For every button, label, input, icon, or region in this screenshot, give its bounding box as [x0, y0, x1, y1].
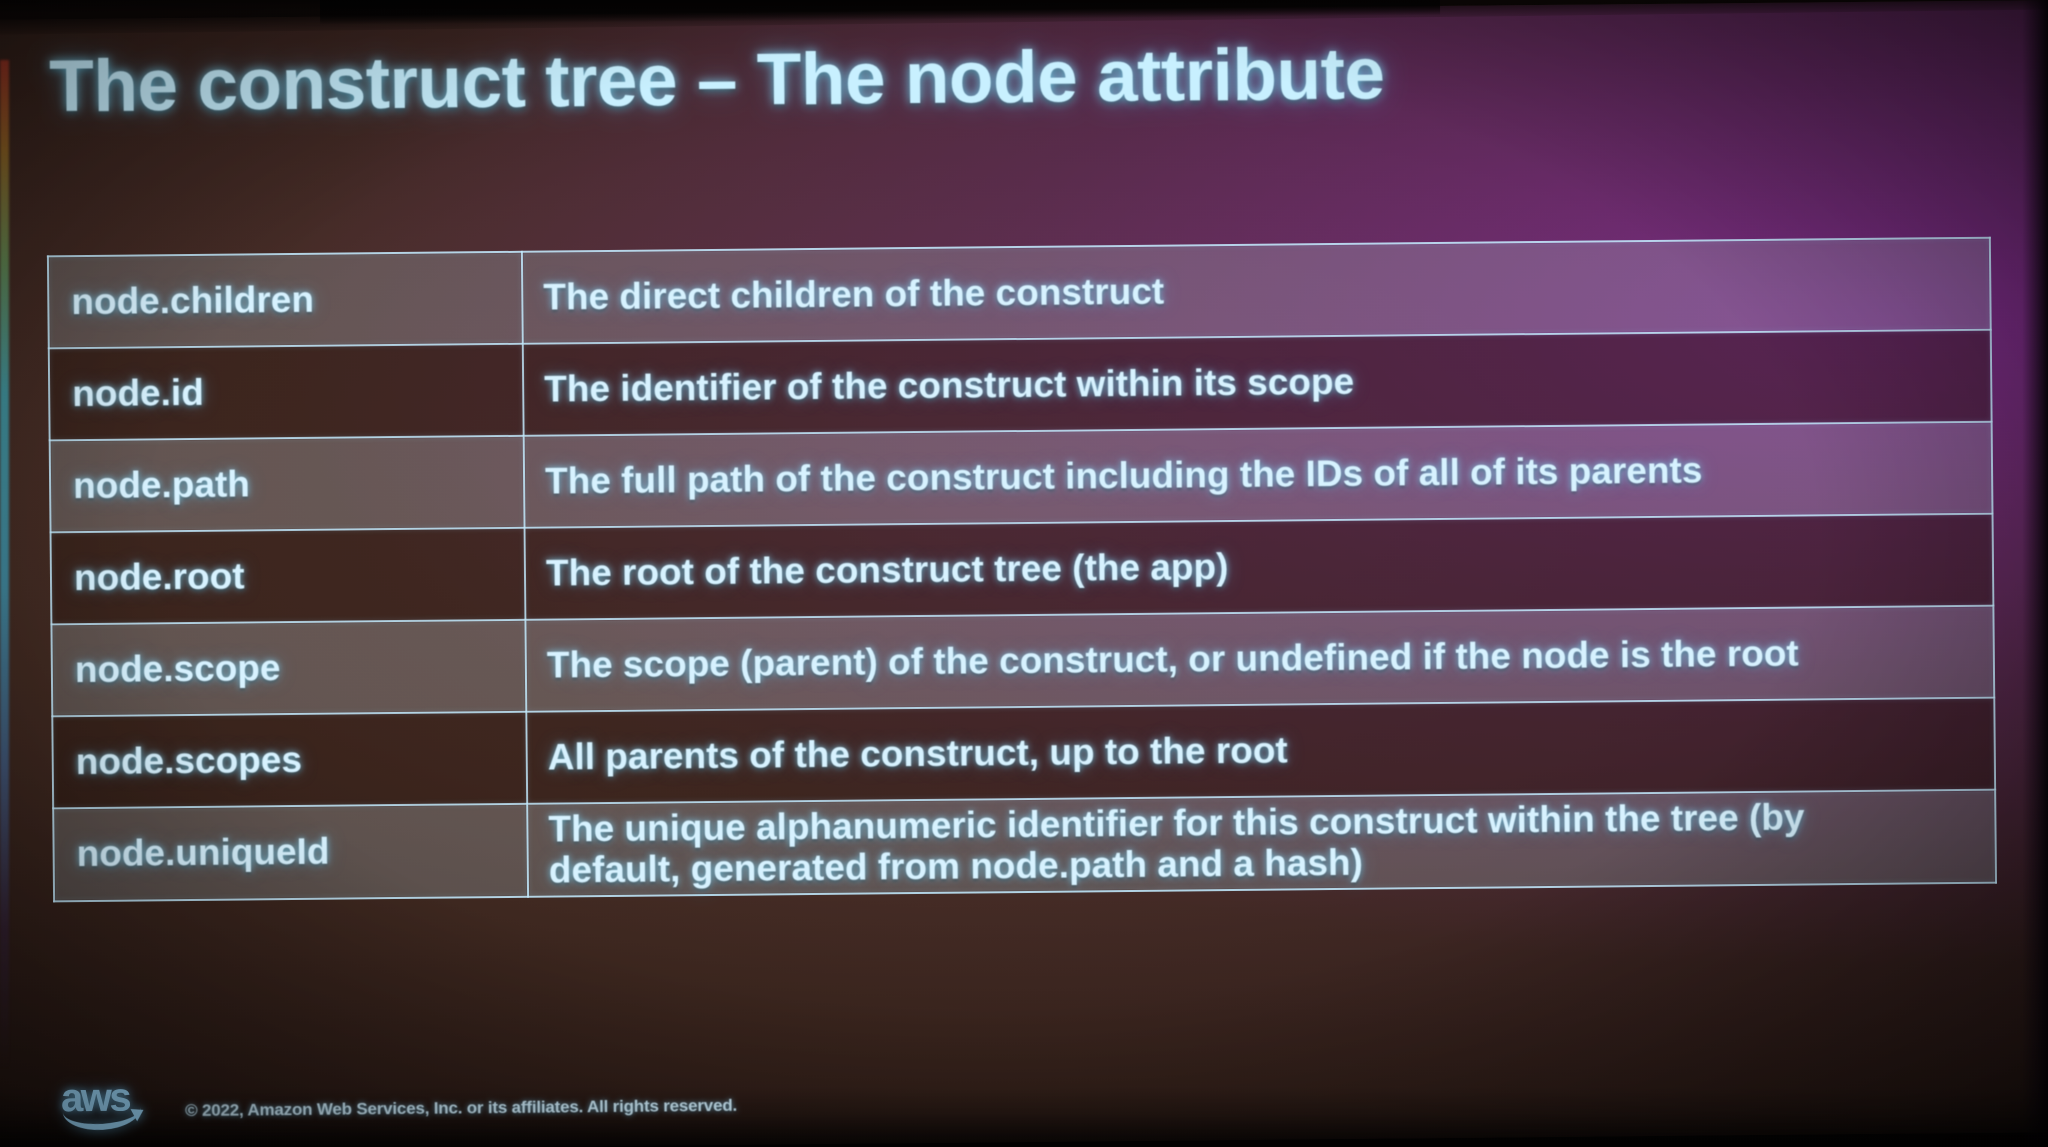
slide-content: The construct tree – The node attribute …	[0, 0, 2048, 1147]
description-line: The direct children of the construct	[543, 263, 1971, 318]
description-line: The full path of the construct including…	[545, 447, 1973, 502]
presentation-slide: The construct tree – The node attribute …	[0, 0, 2048, 1147]
attribute-name-cell: node.scope	[51, 620, 526, 717]
attribute-name-cell: node.scopes	[52, 712, 527, 809]
attribute-description-cell: The scope (parent) of the construct, or …	[525, 606, 1994, 712]
copyright-text: © 2022, Amazon Web Services, Inc. or its…	[185, 1096, 737, 1127]
description-line: The root of the construct tree (the app)	[546, 539, 1974, 594]
node-attribute-table: node.children The direct children of the…	[47, 237, 1997, 903]
attribute-description-cell: All parents of the construct, up to the …	[526, 698, 1995, 804]
description-line: All parents of the construct, up to the …	[548, 723, 1976, 778]
description-line: The scope (parent) of the construct, or …	[547, 631, 1975, 686]
attribute-description-cell: The unique alphanumeric identifier for t…	[527, 790, 1996, 897]
attribute-name-cell: node.uniqueId	[53, 804, 528, 901]
attribute-name-cell: node.children	[48, 252, 523, 349]
attribute-description-cell: The direct children of the construct	[522, 238, 1991, 344]
attribute-name-cell: node.id	[49, 344, 524, 441]
table-row: node.uniqueId The unique alphanumeric id…	[53, 790, 1996, 902]
aws-logo-icon: aws	[61, 1079, 145, 1128]
attribute-name-cell: node.path	[50, 436, 525, 533]
attribute-description-cell: The root of the construct tree (the app)	[525, 514, 1994, 620]
description-line: The identifier of the construct within i…	[544, 355, 1972, 410]
page-title: The construct tree – The node attribute	[49, 33, 1385, 129]
attribute-description-cell: The identifier of the construct within i…	[523, 330, 1992, 436]
attribute-description-cell: The full path of the construct including…	[524, 422, 1993, 528]
slide-footer: aws © 2022, Amazon Web Services, Inc. or…	[61, 1074, 737, 1128]
table-body: node.children The direct children of the…	[48, 238, 1996, 901]
attribute-name-cell: node.root	[51, 528, 526, 625]
